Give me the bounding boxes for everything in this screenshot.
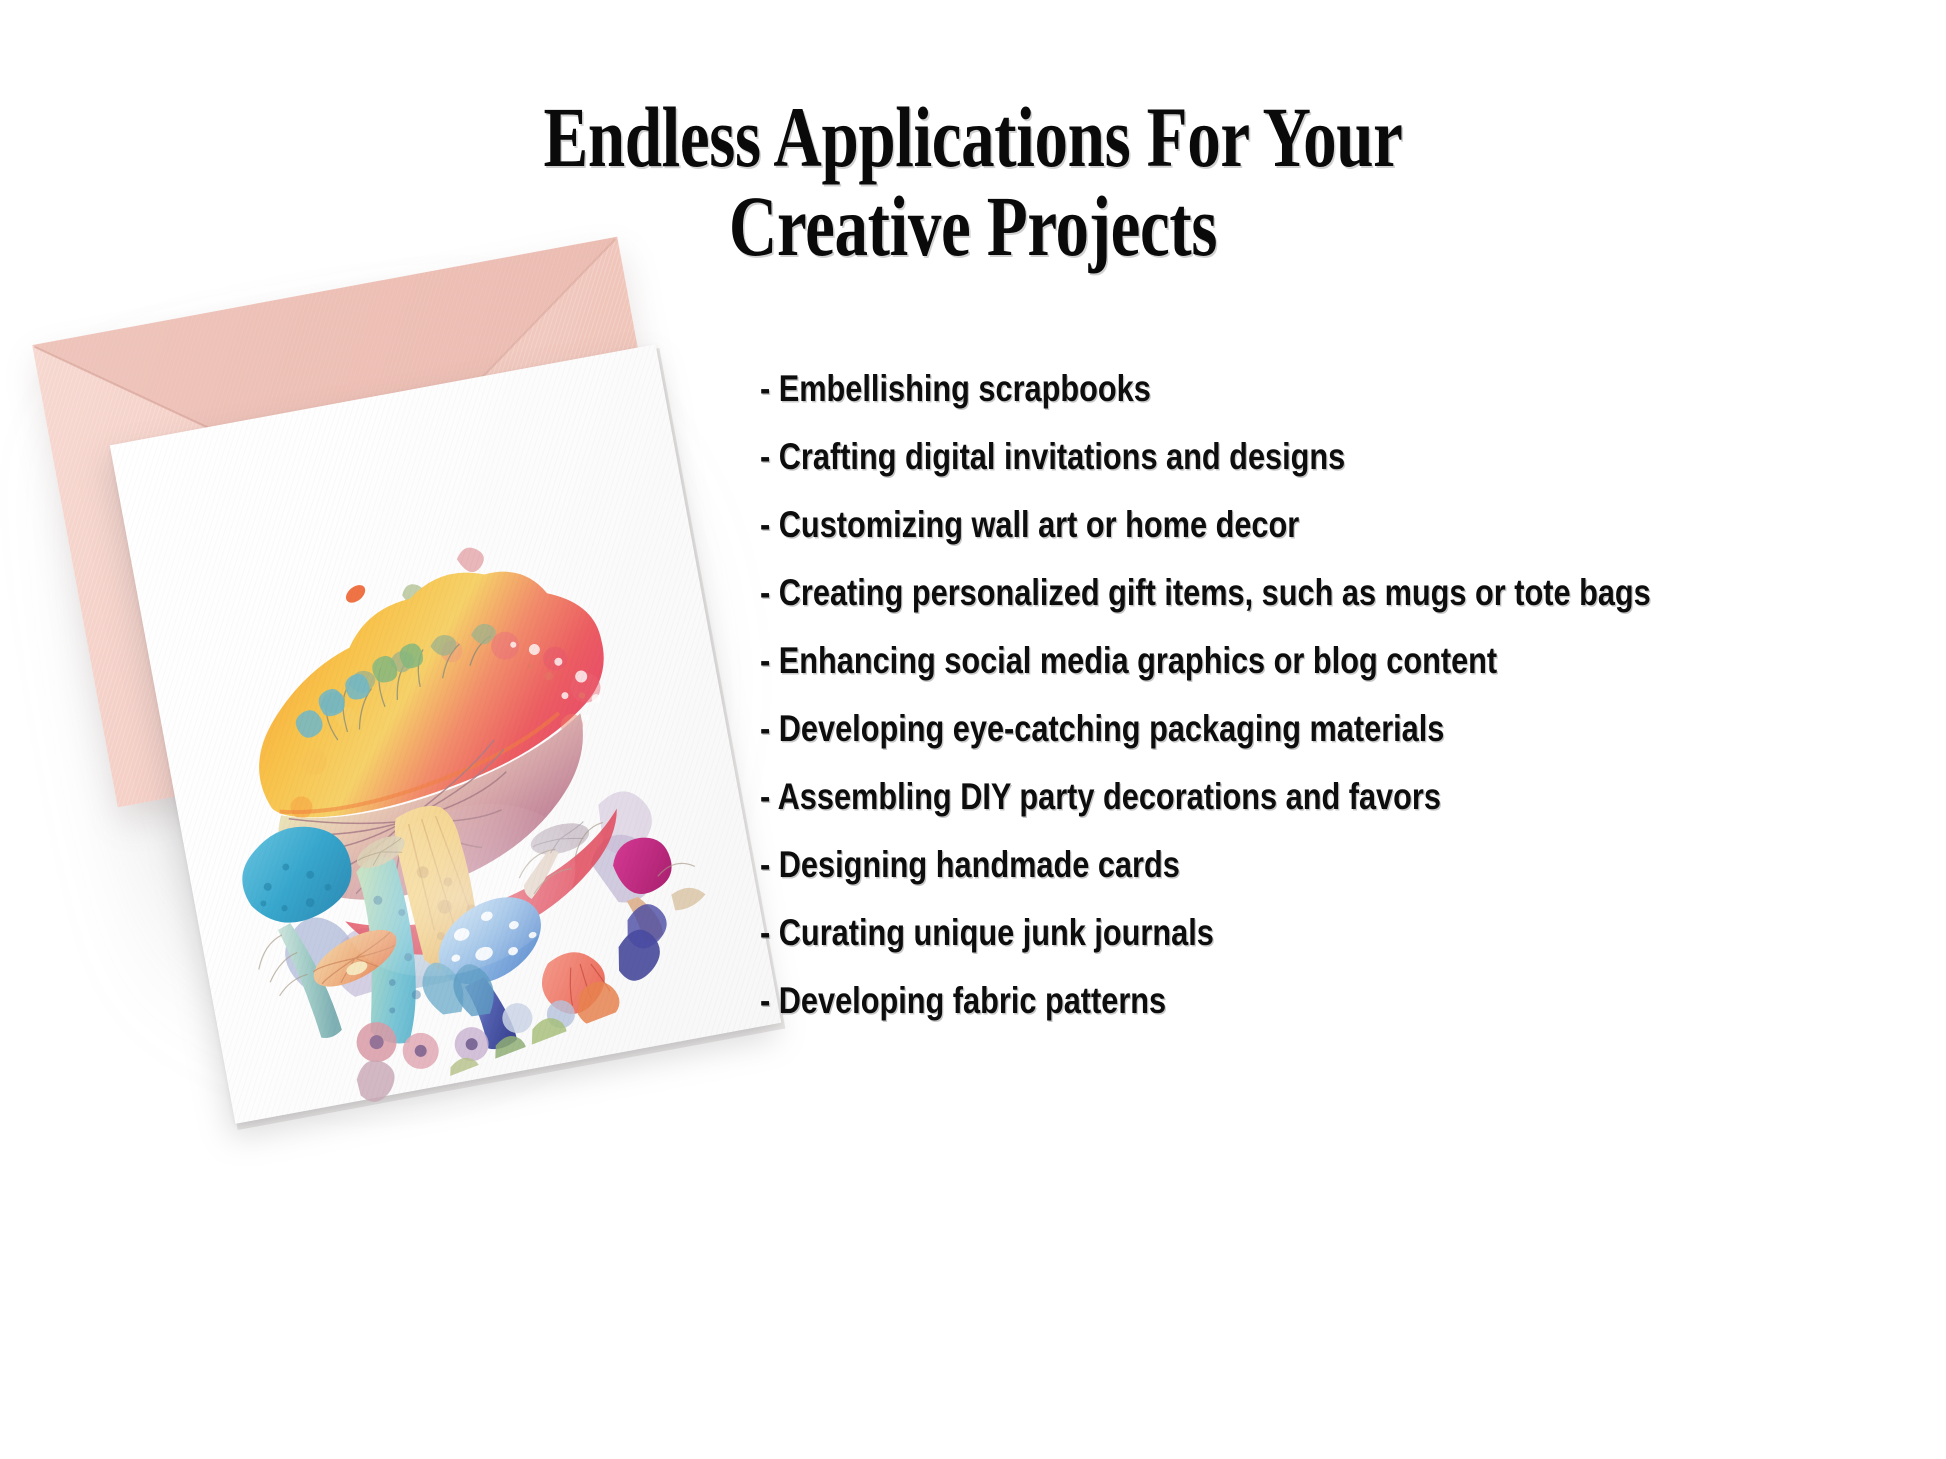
product-photo [0,225,830,1365]
list-item: - Developing fabric patterns [760,982,1731,1019]
page-title: Endless Applications For Your Creative P… [0,96,1946,267]
list-item: - Enhancing social media graphics or blo… [760,642,1731,679]
list-item: - Developing eye-catching packaging mate… [760,710,1731,747]
list-item: - Designing handmade cards [760,846,1731,883]
list-item: - Crafting digital invitations and desig… [760,438,1731,475]
list-item: - Assembling DIY party decorations and f… [760,778,1731,815]
page-title-line-2: Creative Projects [214,185,1732,268]
list-item: - Customizing wall art or home decor [760,506,1731,543]
list-item: - Curating unique junk journals [760,914,1731,951]
list-item: - Embellishing scrapbooks [760,370,1731,407]
list-item: - Creating personalized gift items, such… [760,574,1731,611]
mushroom-artwork [117,478,791,1135]
applications-list: - Embellishing scrapbooks - Crafting dig… [760,370,1930,1050]
watercolor-mushroom-illustration [117,478,791,1135]
page-title-line-1: Endless Applications For Your [214,96,1732,179]
